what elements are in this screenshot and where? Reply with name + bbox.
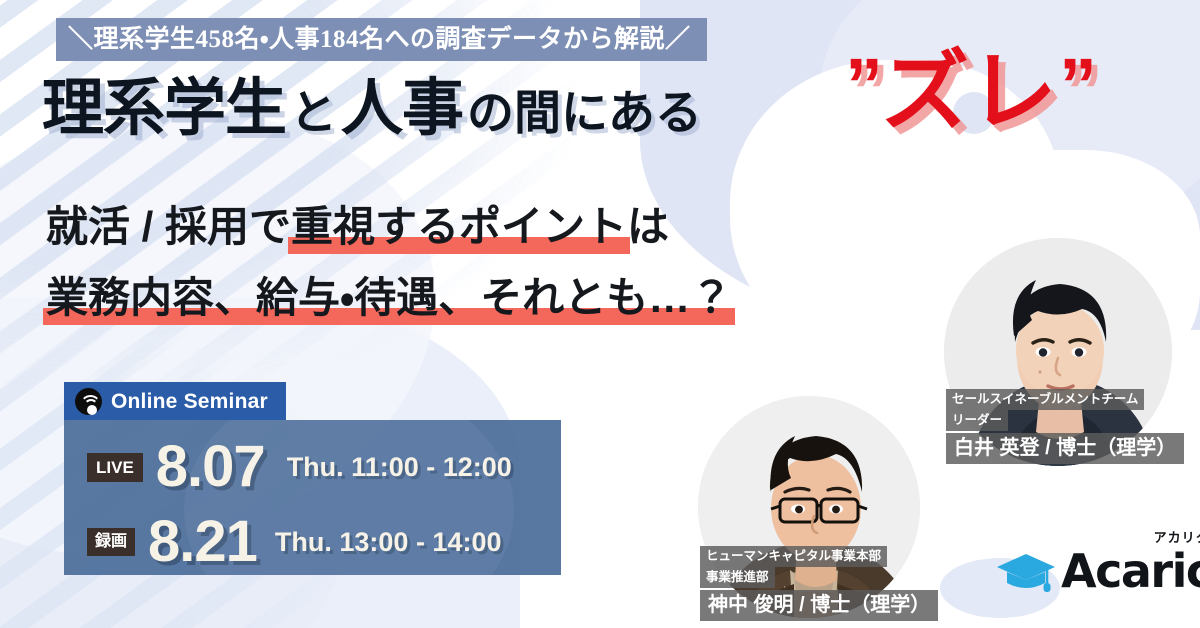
eyebrow-banner: ＼理系学生458名・人事184名への調査データから解説／ — [56, 18, 707, 61]
title-highlight-text: ズレ — [879, 50, 1059, 134]
session-time-live: Thu. 11:00 - 12:00 — [287, 454, 512, 481]
speaker-2-role-line2: 事業推進部 — [700, 567, 775, 588]
speaker-1-name: 白井 英登 / 博士（理学） — [946, 433, 1184, 464]
quote-open-mark: ” — [845, 50, 879, 122]
seminar-session-row-recorded: 録画 8.21 Thu. 13:00 - 14:00 — [87, 513, 502, 571]
seminar-session-row-live: LIVE 8.07 Thu. 11:00 - 12:00 — [87, 438, 512, 496]
acaric-ruby-text: アカリク — [1154, 532, 1200, 545]
subtitle-line-1-tail: は — [627, 203, 669, 250]
wifi-icon — [75, 388, 102, 415]
title-segment-no-aida: の間にある — [467, 89, 702, 136]
session-badge-live: LIVE — [87, 453, 143, 482]
speaker-1-caption: セールスイネーブルメントチーム リーダー 白井 英登 / 博士（理学） — [946, 389, 1184, 464]
seminar-promo-banner: ＼理系学生458名・人事184名への調査データから解説／ 理系学生 と 人事 の… — [0, 0, 1200, 628]
seminar-header-label: Online Seminar — [111, 391, 268, 412]
seminar-header-tab: Online Seminar — [64, 382, 286, 420]
subtitle-line-2-highlight: 業務内容、給与・待遇、それとも…？ — [46, 277, 732, 319]
session-date-live: 8.07 — [156, 438, 265, 496]
title-segment-to: と — [290, 89, 337, 136]
speaker-2-name: 神中 俊明 / 博士（理学） — [700, 590, 938, 621]
subtitle-line-1: 就活 / 採用で重視するポイントは — [46, 206, 669, 248]
session-time-recorded: Thu. 13:00 - 14:00 — [275, 529, 502, 556]
speaker-1-role-line2: リーダー — [946, 410, 1008, 431]
session-badge-recorded: 録画 — [87, 528, 135, 556]
acaric-wordmark-text: Acaric — [1061, 544, 1200, 598]
eyebrow-text: ＼理系学生458名・人事184名への調査データから解説／ — [68, 27, 691, 52]
title-highlight-zure: ” ズレ ” — [845, 50, 1093, 134]
subtitle-line-1-highlight: 重視するポイント — [291, 206, 627, 248]
subtitle-line-1-plain: 就活 / 採用で — [46, 203, 291, 250]
title-segment-jinji: 人事 — [341, 78, 463, 140]
page-title: 理系学生 と 人事 の間にある — [42, 78, 706, 140]
acaric-wordmark: Acaric アカリク — [1061, 548, 1200, 594]
quote-close-mark: ” — [1059, 50, 1093, 122]
acaric-logo: Acaric アカリク — [995, 548, 1200, 594]
speaker-2-role-line1: ヒューマンキャピタル事業本部 — [700, 546, 887, 567]
speaker-1-role-line1: セールスイネーブルメントチーム — [946, 389, 1144, 410]
graduation-cap-icon — [995, 552, 1057, 594]
speaker-2-caption: ヒューマンキャピタル事業本部 事業推進部 神中 俊明 / 博士（理学） — [700, 546, 938, 621]
seminar-schedule-panel: LIVE 8.07 Thu. 11:00 - 12:00 録画 8.21 Thu… — [64, 420, 561, 575]
session-date-recorded: 8.21 — [148, 513, 257, 571]
title-segment-rikei-gakusei: 理系学生 — [42, 78, 286, 140]
subtitle-line-2: 業務内容、給与・待遇、それとも…？ — [46, 277, 732, 319]
